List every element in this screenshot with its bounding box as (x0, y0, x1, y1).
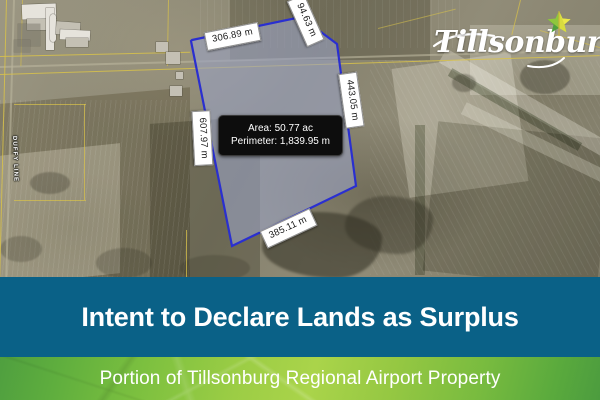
leaf-icon (546, 10, 572, 36)
subtitle-banner: Portion of Tillsonburg Regional Airport … (0, 357, 600, 400)
aerial-map[interactable]: 306.89 m 94.63 m 443.05 m 385.11 m 607.9… (0, 0, 600, 277)
segment-label-west: 607.97 m (192, 110, 213, 166)
parcel-info-box: Area: 50.77 ac Perimeter: 1,839.95 m (218, 115, 343, 156)
tillsonburg-logo: Tillsonburg (434, 10, 586, 72)
parcel-perimeter-label: Perimeter: 1,839.95 m (231, 135, 330, 148)
parcel-area-label: Area: 50.77 ac (231, 122, 330, 135)
main-banner: Intent to Declare Lands as Surplus (0, 277, 600, 357)
banner-subtitle: Portion of Tillsonburg Regional Airport … (100, 369, 501, 388)
poster-graphic: 306.89 m 94.63 m 443.05 m 385.11 m 607.9… (0, 0, 600, 400)
banner-title: Intent to Declare Lands as Surplus (81, 304, 518, 331)
